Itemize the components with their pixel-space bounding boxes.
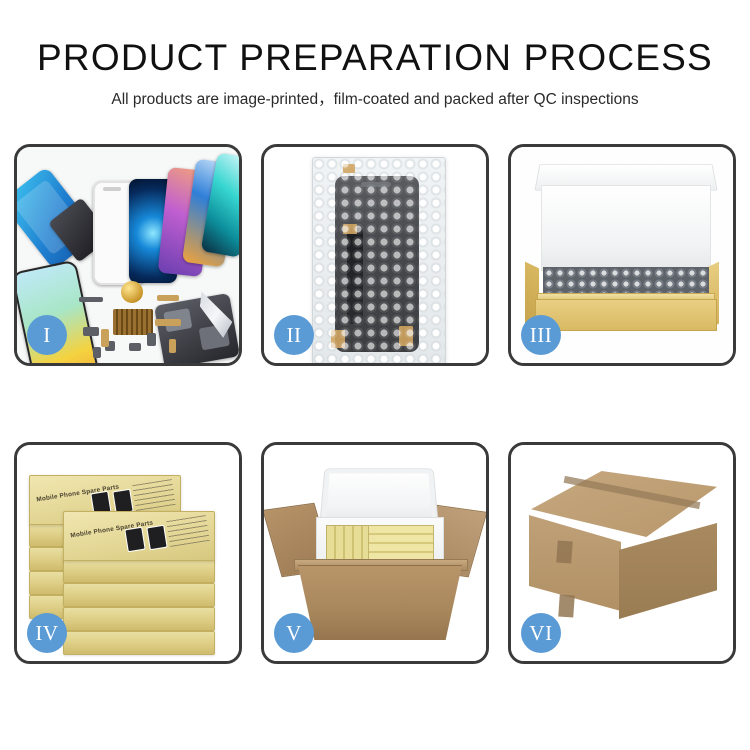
box-front-wall	[535, 299, 717, 331]
gold-component	[121, 281, 143, 303]
foam-sheet	[541, 185, 711, 271]
step-badge-5: V	[274, 613, 314, 653]
page-subtitle: All products are image-printed，film-coat…	[0, 89, 750, 111]
step-panel-1: I	[14, 144, 242, 366]
carton-tape-upper	[556, 541, 572, 564]
step-panel-6: VI	[508, 442, 736, 664]
carton-tape-lower	[558, 595, 574, 618]
step-badge-2: II	[274, 315, 314, 355]
step-panel-5: V	[261, 442, 489, 664]
step-badge-6: VI	[521, 613, 561, 653]
bubble-wrap-bag	[312, 157, 446, 363]
step-panel-4: Mobile Phone Spare Parts Mobile Phone Sp…	[14, 442, 242, 664]
carton-front-wall	[298, 565, 462, 640]
step-badge-4: IV	[27, 613, 67, 653]
header: PRODUCT PREPARATION PROCESS All products…	[0, 36, 750, 111]
step-panel-3: III	[508, 144, 736, 366]
labeled-box-front: Mobile Phone Spare Parts	[63, 511, 215, 561]
flex-cable	[347, 228, 363, 324]
step-badge-1: I	[27, 315, 67, 355]
step-badge-3: III	[521, 315, 561, 355]
ic-chip-array	[113, 309, 153, 335]
foam-case-lid	[319, 468, 438, 524]
page-title: PRODUCT PREPARATION PROCESS	[0, 36, 750, 80]
process-steps-grid: I II	[14, 144, 736, 664]
product-preparation-infographic: PRODUCT PREPARATION PROCESS All products…	[0, 0, 750, 750]
step-panel-2: II	[261, 144, 489, 366]
spare-parts-field	[79, 287, 199, 359]
